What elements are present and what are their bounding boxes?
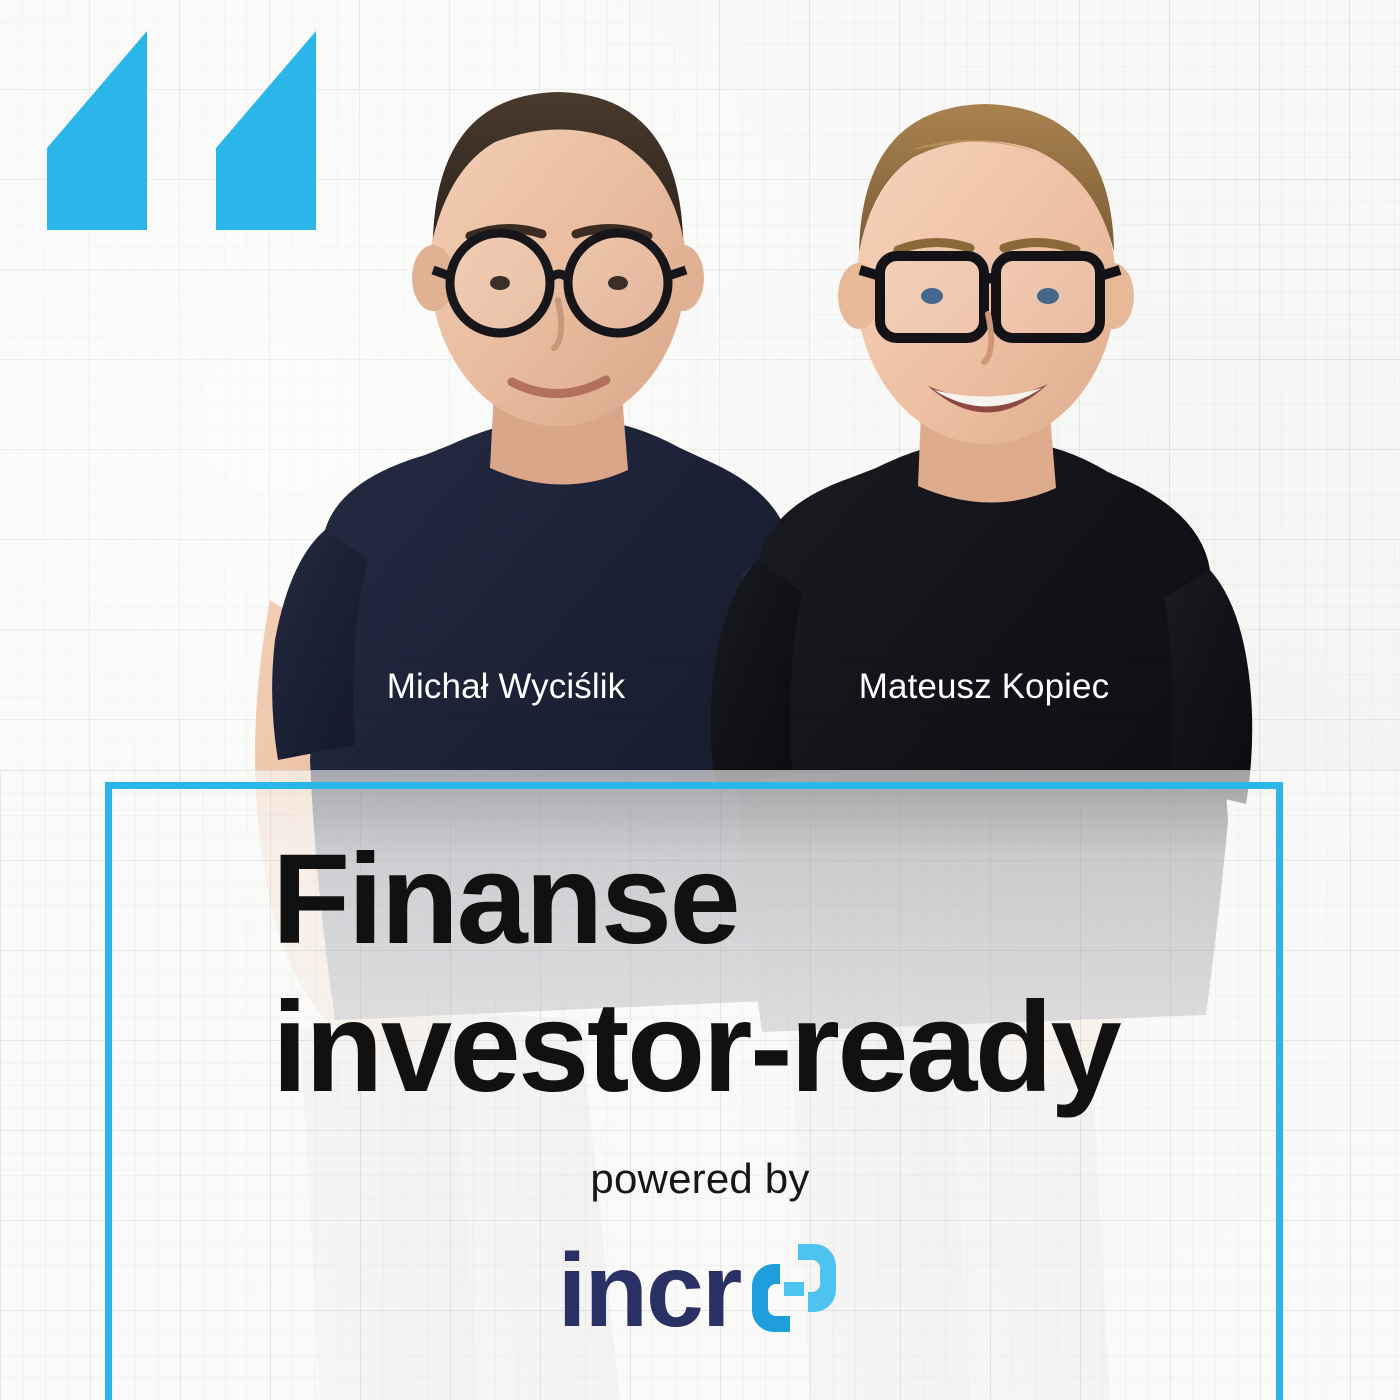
speaker-badge-michal-wycislik: Michał Wyciślik [305,658,707,714]
speaker-badge-mateusz-kopiec: Mateusz Kopiec [780,658,1188,714]
podcast-cover-poster: Michał Wyciślik Mateusz Kopiec Finanse i… [0,0,1400,1400]
powered-by-label: powered by [0,1155,1400,1203]
title-line-1: Finanse [272,826,1252,974]
incro-wordmark: incr [558,1239,741,1343]
title-line-2: investor-ready [272,974,1252,1122]
incro-link-mark-icon [746,1236,842,1345]
incro-logo: incr [0,1236,1400,1345]
page-title: Finanse investor-ready [272,826,1252,1123]
